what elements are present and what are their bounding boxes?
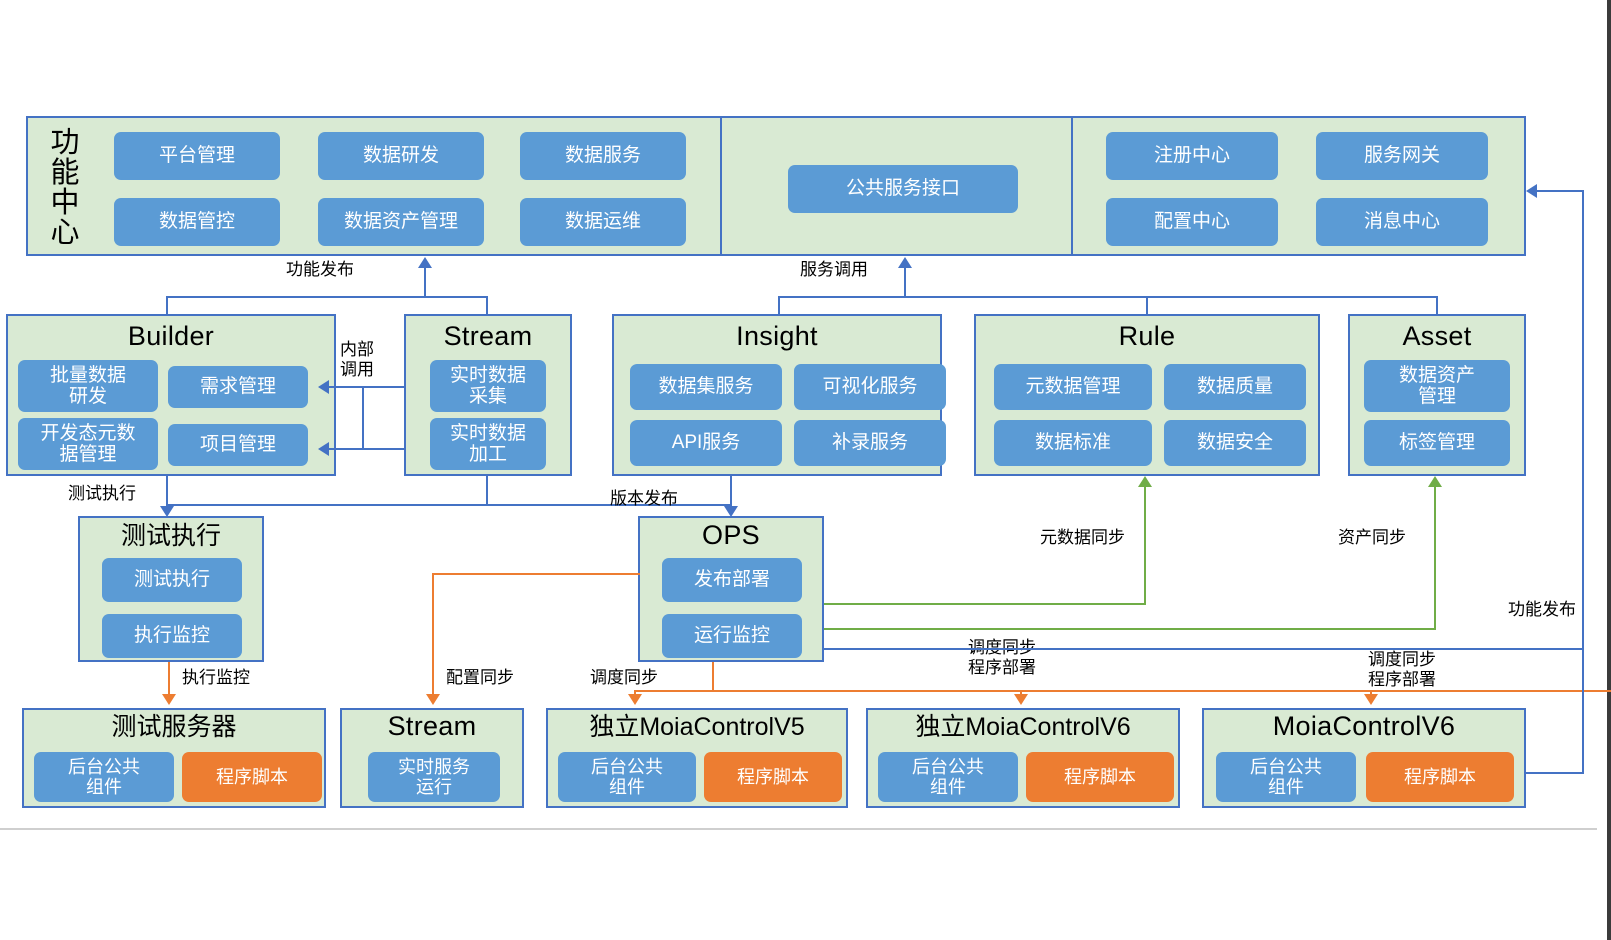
conn-left-bus — [166, 296, 488, 298]
conn-stream-down — [486, 476, 488, 506]
conn-asset-sync-v — [1434, 486, 1436, 630]
rule-item-data-standard[interactable]: 数据标准 — [994, 420, 1152, 466]
module-builder: Builder 批量数据 研发 需求管理 开发态元数 据管理 项目管理 — [6, 314, 336, 476]
deployment-test-server: 测试服务器 后台公共 组件 程序脚本 — [22, 708, 326, 808]
label-exec-monitor: 执行监控 — [182, 668, 250, 688]
conn-right-rail-top — [1534, 190, 1584, 192]
arrow-exec-monitor — [162, 694, 176, 705]
rule-item-data-security[interactable]: 数据安全 — [1164, 420, 1306, 466]
arrow-test-exec — [160, 506, 174, 517]
rule-item-data-quality[interactable]: 数据质量 — [1164, 364, 1306, 410]
conn-meta-sync-h — [824, 603, 1146, 605]
fc-item-data-asset-mgmt[interactable]: 数据资产管理 — [318, 198, 484, 246]
label-char: 功 — [50, 128, 79, 158]
arrow-func-publish-right — [1526, 184, 1537, 198]
conn-internal-riser — [362, 386, 364, 448]
label-version-publish: 版本发布 — [610, 489, 678, 509]
module-test-exec: 测试执行 测试执行 执行监控 — [78, 516, 264, 662]
label-test-exec: 测试执行 — [68, 484, 136, 504]
fc-item-data-service[interactable]: 数据服务 — [520, 132, 686, 180]
conn-ops-monitor-right — [824, 648, 1584, 650]
page-bottom-rule — [0, 828, 1597, 830]
deployment-title: 独立MoiaControlV5 — [548, 714, 846, 740]
label-func-publish-top: 功能发布 — [286, 260, 354, 280]
conn-exec-monitor — [168, 662, 170, 698]
insight-item-supplement-service[interactable]: 补录服务 — [794, 420, 946, 466]
fc-item-data-dev[interactable]: 数据研发 — [318, 132, 484, 180]
function-center-band: 功 能 中 心 平台管理 数据研发 数据服务 数据管控 数据资产管理 数据运维 … — [26, 116, 1526, 256]
insight-item-api-service[interactable]: API服务 — [630, 420, 782, 466]
deployment-moiacontrolv6-standalone: 独立MoiaControlV6 后台公共 组件 程序脚本 — [866, 708, 1180, 808]
rule-item-metadata-mgmt[interactable]: 元数据管理 — [994, 364, 1152, 410]
deploy-item-backend-common[interactable]: 后台公共 组件 — [558, 752, 696, 802]
module-asset: Asset 数据资产 管理 标签管理 — [1348, 314, 1526, 476]
deployment-moiacontrolv5: 独立MoiaControlV5 后台公共 组件 程序脚本 — [546, 708, 848, 808]
arrow-asset-sync — [1428, 476, 1442, 487]
conn-right-bus-riser — [904, 268, 906, 298]
fc-item-public-service-api[interactable]: 公共服务接口 — [788, 165, 1018, 213]
conn-right-rail-bottom — [1526, 772, 1584, 774]
conn-stream-up — [486, 296, 488, 316]
arrow-schedule-sync-v5 — [628, 694, 642, 705]
module-rule: Rule 元数据管理 数据质量 数据标准 数据安全 — [974, 314, 1320, 476]
label-func-publish-right: 功能发布 — [1452, 600, 1576, 620]
module-title: OPS — [640, 521, 822, 549]
fc-item-config[interactable]: 配置中心 — [1106, 198, 1278, 246]
page-right-border — [1607, 0, 1611, 940]
label-asset-sync: 资产同步 — [1338, 528, 1406, 548]
label-char: 心 — [50, 218, 79, 248]
arrow-func-publish-top — [418, 257, 432, 268]
deployment-title: 独立MoiaControlV6 — [868, 714, 1178, 740]
conn-asset-sync-h — [824, 628, 1436, 630]
arrow-schedule-deploy-v6 — [1364, 694, 1378, 705]
fc-item-data-ops[interactable]: 数据运维 — [520, 198, 686, 246]
fc-item-message[interactable]: 消息中心 — [1316, 198, 1488, 246]
arrow-config-sync — [426, 694, 440, 705]
conn-insight-up — [778, 296, 780, 316]
module-title: Stream — [406, 322, 570, 350]
fc-item-gateway[interactable]: 服务网关 — [1316, 132, 1488, 180]
arrow-version-publish — [724, 506, 738, 517]
conn-right-bus — [778, 296, 1438, 298]
conn-config-sync-h — [432, 573, 640, 575]
label-meta-sync: 元数据同步 — [1040, 528, 1125, 548]
builder-item-dev-metadata-mgmt[interactable]: 开发态元数 据管理 — [18, 418, 158, 470]
conn-asset-up — [1436, 296, 1438, 316]
deploy-item-backend-common[interactable]: 后台公共 组件 — [34, 752, 174, 802]
conn-config-sync-v — [432, 573, 434, 698]
test-exec-item-run[interactable]: 测试执行 — [102, 558, 242, 602]
conn-meta-sync-v — [1144, 486, 1146, 605]
band-divider-1 — [720, 118, 722, 254]
architecture-diagram: 功 能 中 心 平台管理 数据研发 数据服务 数据管控 数据资产管理 数据运维 … — [0, 0, 1611, 940]
conn-internal-to-stream-2 — [362, 448, 406, 450]
label-service-call: 服务调用 — [800, 260, 868, 280]
deployment-title: MoiaControlV6 — [1204, 712, 1524, 740]
module-title: 测试执行 — [80, 523, 262, 549]
deploy-item-program-script[interactable]: 程序脚本 — [704, 752, 842, 802]
label-schedule-sync: 调度同步 — [590, 668, 658, 688]
conn-internal-top — [326, 386, 364, 388]
band-divider-2 — [1071, 118, 1073, 254]
fc-item-data-govern[interactable]: 数据管控 — [114, 198, 280, 246]
deployment-title: Stream — [342, 712, 522, 740]
builder-item-batch-data-dev[interactable]: 批量数据 研发 — [18, 360, 158, 412]
deployment-title: 测试服务器 — [24, 714, 324, 740]
label-schedule-deploy-2: 调度同步 程序部署 — [1368, 650, 1436, 691]
conn-right-rail-v — [1582, 190, 1584, 774]
fc-item-platform-mgmt[interactable]: 平台管理 — [114, 132, 280, 180]
conn-ops-down — [712, 662, 714, 690]
insight-item-visualization-service[interactable]: 可视化服务 — [794, 364, 946, 410]
asset-item-tag-mgmt[interactable]: 标签管理 — [1364, 420, 1510, 466]
deployment-stream: Stream 实时服务 运行 — [340, 708, 524, 808]
deploy-item-backend-common[interactable]: 后台公共 组件 — [1216, 752, 1356, 802]
module-title: Rule — [976, 322, 1318, 350]
deploy-item-program-script[interactable]: 程序脚本 — [1026, 752, 1174, 802]
deploy-item-realtime-service-run[interactable]: 实时服务 运行 — [368, 752, 500, 802]
arrow-internal-call-1 — [318, 380, 329, 394]
conn-ops-bottom-bus — [634, 690, 1611, 692]
conn-internal-to-stream-1 — [362, 386, 406, 388]
module-stream: Stream 实时数据 采集 实时数据 加工 — [404, 314, 572, 476]
arrow-service-call-top — [898, 257, 912, 268]
label-char: 能 — [50, 158, 79, 188]
label-char: 中 — [50, 188, 79, 218]
ops-item-release-deploy[interactable]: 发布部署 — [662, 558, 802, 602]
deploy-item-program-script[interactable]: 程序脚本 — [1366, 752, 1514, 802]
module-title: Asset — [1350, 322, 1524, 350]
conn-builder-up — [166, 296, 168, 316]
stream-item-realtime-process[interactable]: 实时数据 加工 — [430, 418, 546, 470]
conn-rule-up — [1146, 296, 1148, 316]
builder-item-project-mgmt[interactable]: 项目管理 — [168, 424, 308, 466]
test-exec-item-monitor[interactable]: 执行监控 — [102, 614, 242, 658]
ops-item-runtime-monitor[interactable]: 运行监控 — [662, 614, 802, 658]
conn-left-bus-riser — [424, 268, 426, 298]
builder-item-requirement-mgmt[interactable]: 需求管理 — [168, 366, 308, 408]
label-schedule-deploy-1: 调度同步 程序部署 — [968, 638, 1036, 679]
insight-item-dataset-service[interactable]: 数据集服务 — [630, 364, 782, 410]
module-title: Builder — [8, 322, 334, 350]
module-ops: OPS 发布部署 运行监控 — [638, 516, 824, 662]
arrow-internal-call-2 — [318, 442, 329, 456]
asset-item-data-asset-mgmt[interactable]: 数据资产 管理 — [1364, 360, 1510, 412]
function-center-label: 功 能 中 心 — [42, 128, 88, 248]
label-config-sync: 配置同步 — [446, 668, 514, 688]
conn-insight-down — [730, 476, 732, 506]
deploy-item-program-script[interactable]: 程序脚本 — [182, 752, 322, 802]
conn-internal-bottom — [326, 448, 364, 450]
stream-item-realtime-collect[interactable]: 实时数据 采集 — [430, 360, 546, 412]
module-insight: Insight 数据集服务 可视化服务 API服务 补录服务 — [612, 314, 942, 476]
module-title: Insight — [614, 322, 940, 350]
deploy-item-backend-common[interactable]: 后台公共 组件 — [878, 752, 1018, 802]
arrow-meta-sync — [1138, 476, 1152, 487]
fc-item-registry[interactable]: 注册中心 — [1106, 132, 1278, 180]
deployment-moiacontrolv6: MoiaControlV6 后台公共 组件 程序脚本 — [1202, 708, 1526, 808]
label-internal-call: 内部 调用 — [340, 340, 374, 379]
arrow-schedule-deploy-v6-standalone — [1014, 694, 1028, 705]
